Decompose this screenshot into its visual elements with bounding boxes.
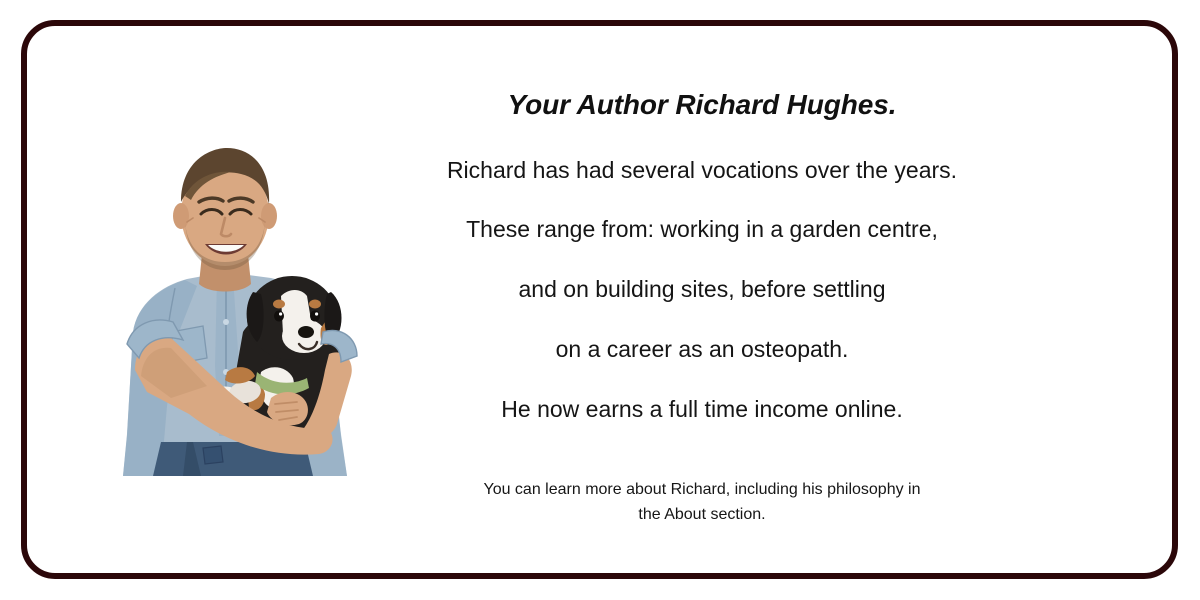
shirt-button <box>223 319 229 325</box>
dog-nose <box>298 326 314 338</box>
bio-line-4: on a career as an osteopath. <box>382 335 1022 364</box>
author-card: Your Author Richard Hughes. Richard has … <box>21 20 1178 579</box>
dog-eye-left <box>274 311 284 322</box>
dog-eye-glint-left <box>279 312 282 315</box>
author-photo-illustration <box>75 136 379 476</box>
bio-line-1: Richard has had several vocations over t… <box>382 156 1022 185</box>
footnote-line-2: the About section. <box>382 503 1022 528</box>
ear-right <box>261 203 277 229</box>
author-photo <box>75 136 379 476</box>
dog-brow-left <box>273 300 285 309</box>
bio-line-2: These range from: working in a garden ce… <box>382 215 1022 244</box>
dog-eye-glint-right <box>315 312 318 315</box>
author-footnote: You can learn more about Richard, includ… <box>382 478 1022 528</box>
footnote-line-1: You can learn more about Richard, includ… <box>382 478 1022 503</box>
dog-eye-right <box>310 311 320 322</box>
jeans-pocket <box>203 446 223 464</box>
page-title: Your Author Richard Hughes. <box>382 88 1022 122</box>
bio-line-5: He now earns a full time income online. <box>382 395 1022 424</box>
ear-left <box>173 203 189 229</box>
bio-line-3: and on building sites, before settling <box>382 275 1022 304</box>
author-text-column: Your Author Richard Hughes. Richard has … <box>382 88 1022 423</box>
dog-brow-right <box>309 300 321 309</box>
card-inner: Your Author Richard Hughes. Richard has … <box>27 26 1172 573</box>
